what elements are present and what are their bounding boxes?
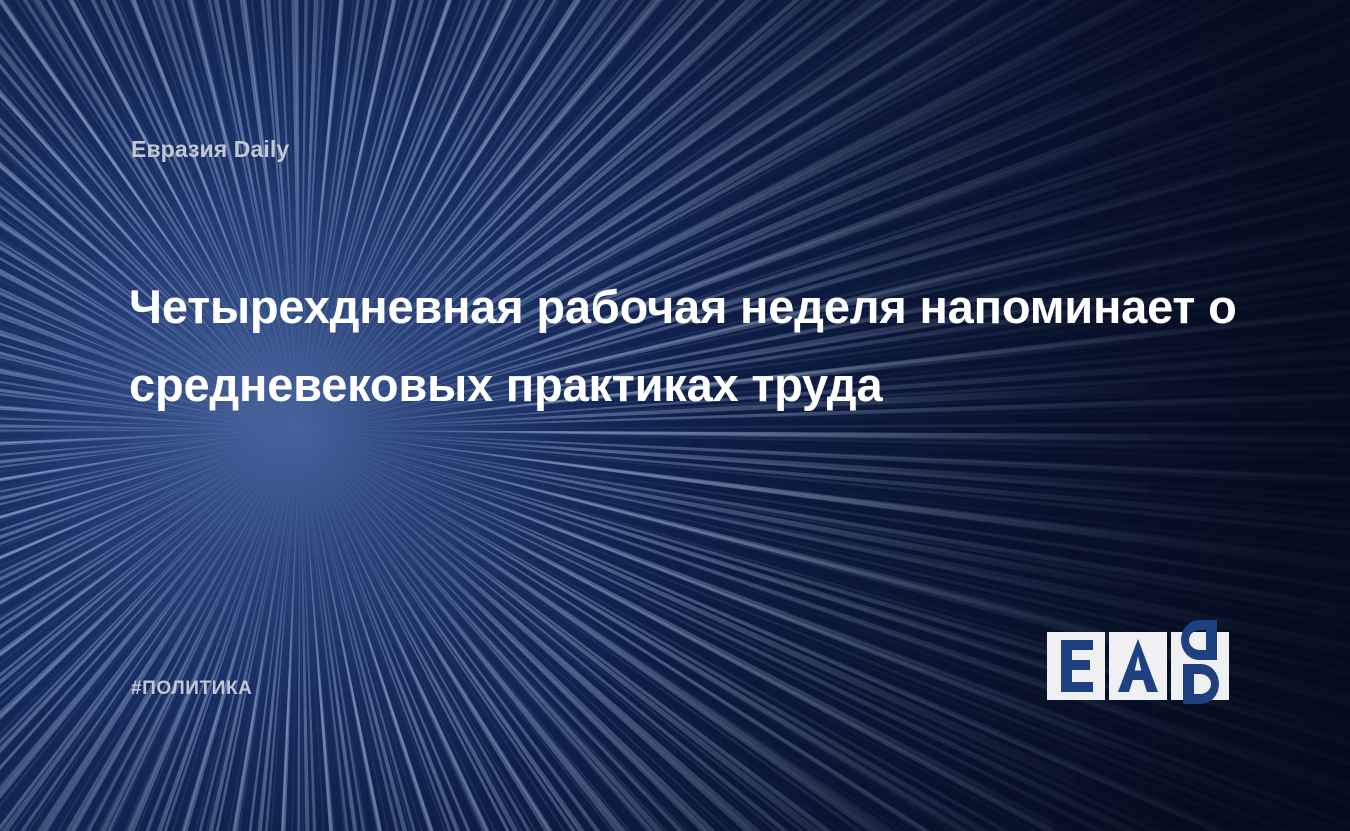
logo-letter-a-icon — [1109, 632, 1167, 700]
category-tag[interactable]: #ПОЛИТИКА — [131, 678, 253, 700]
ead-logo[interactable] — [1044, 620, 1230, 704]
share-card: Евразия Daily Четырехдневная рабочая нед… — [0, 0, 1350, 831]
brand-name: Евразия Daily — [131, 136, 289, 163]
logo-letter-e-icon — [1047, 632, 1105, 700]
card-content: Евразия Daily Четырехдневная рабочая нед… — [0, 0, 1350, 831]
headline-title: Четырехдневная рабочая неделя напоминает… — [129, 268, 1239, 424]
logo-letter-d-icon — [1171, 620, 1229, 704]
